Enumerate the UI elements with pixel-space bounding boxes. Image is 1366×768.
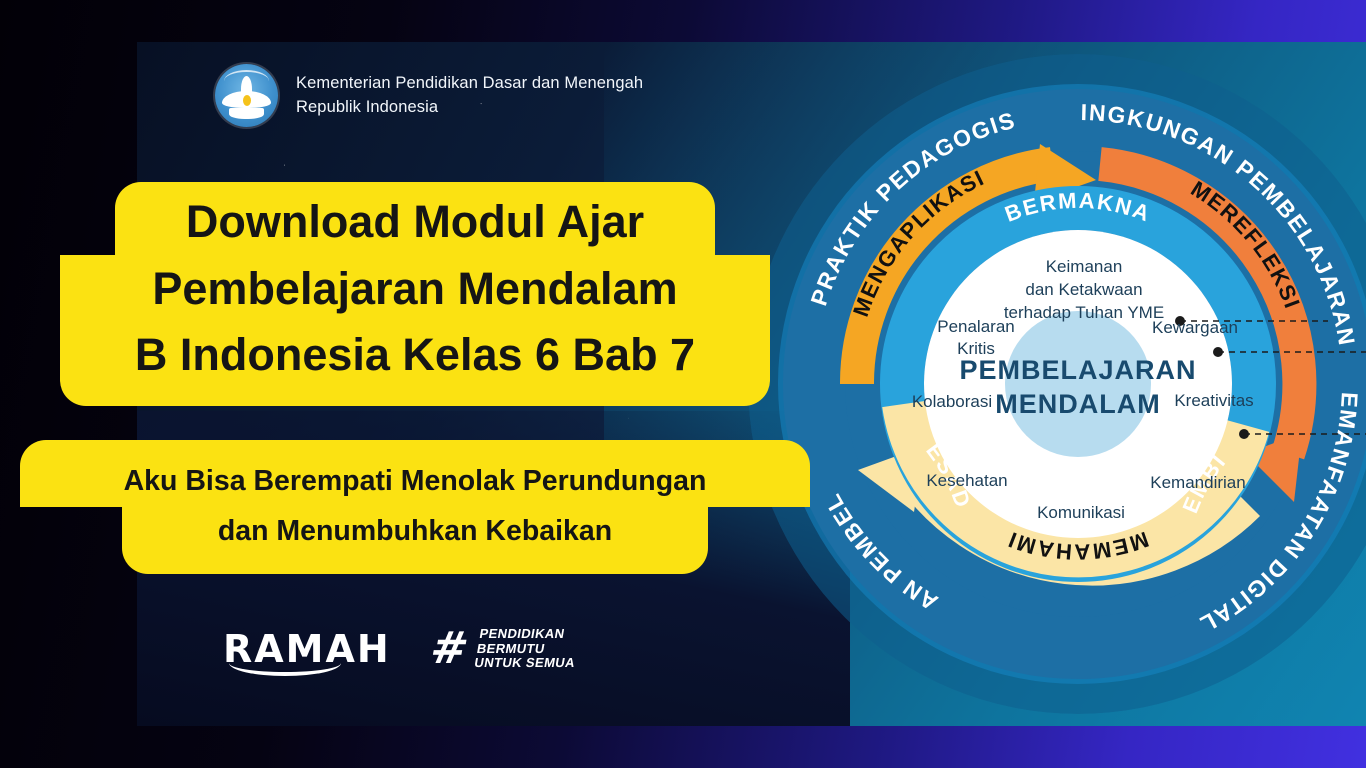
dimension-keimanan-1: Keimanan xyxy=(1046,257,1123,276)
headline-line-3: B Indonesia Kelas 6 Bab 7 xyxy=(60,323,770,406)
dimension-kreativitas: Kreativitas xyxy=(1174,391,1253,410)
subheadline-block: Aku Bisa Berempati Menolak Perundungan d… xyxy=(0,440,830,574)
pendidikan-bermutu-logo: # Pendidikan Bermutu Untuk Semua xyxy=(431,627,577,671)
footer-logo-group: RAMAH # Pendidikan Bermutu Untuk Semua xyxy=(223,627,577,671)
ministry-line-1: Kementerian Pendidikan Dasar dan Menenga… xyxy=(296,72,643,95)
logo-book xyxy=(229,108,264,119)
subheadline-line-2: dan Menumbuhkan Kebaikan xyxy=(122,507,708,574)
tagline-line-1: Pendidikan xyxy=(478,627,581,642)
dimension-keimanan-2: dan Ketakwaan xyxy=(1025,280,1142,299)
tut-wuri-handayani-logo-icon xyxy=(215,64,278,127)
ministry-name: Kementerian Pendidikan Dasar dan Menenga… xyxy=(296,72,643,119)
dimension-kesehatan: Kesehatan xyxy=(926,471,1007,490)
headline-line-1: Download Modul Ajar xyxy=(115,182,715,255)
ramah-smile-icon xyxy=(229,650,341,676)
dimension-komunikasi: Komunikasi xyxy=(1037,503,1125,522)
ramah-logo: RAMAH xyxy=(223,630,391,668)
diagram-center-line-2: MENDALAM xyxy=(995,389,1160,419)
dimension-keimanan-3: terhadap Tuhan YME xyxy=(1004,303,1164,322)
ministry-line-2: Republik Indonesia xyxy=(296,96,643,119)
headline-line-2: Pembelajaran Mendalam xyxy=(60,255,770,324)
ministry-header: Kementerian Pendidikan Dasar dan Menenga… xyxy=(137,42,1366,149)
headline-block: Download Modul Ajar Pembelajaran Mendala… xyxy=(0,182,830,406)
tagline-line-3: Untuk Semua xyxy=(473,656,576,671)
diagram-center-line-1: PEMBELAJARAN xyxy=(959,355,1196,385)
dimension-kewargaan: Kewargaan xyxy=(1152,318,1238,337)
dimension-kolaborasi: Kolaborasi xyxy=(912,392,992,411)
logo-flame-core xyxy=(243,95,251,106)
pendidikan-bermutu-tagline: Pendidikan Bermutu Untuk Semua xyxy=(473,627,581,671)
hashtag-icon: # xyxy=(427,630,470,667)
poster-canvas: Kementerian Pendidikan Dasar dan Menenga… xyxy=(0,0,1366,768)
dimension-penalaran: Penalaran xyxy=(937,317,1015,336)
dimension-kemandirian: Kemandirian xyxy=(1150,473,1245,492)
subheadline-line-1: Aku Bisa Berempati Menolak Perundungan xyxy=(20,440,810,507)
